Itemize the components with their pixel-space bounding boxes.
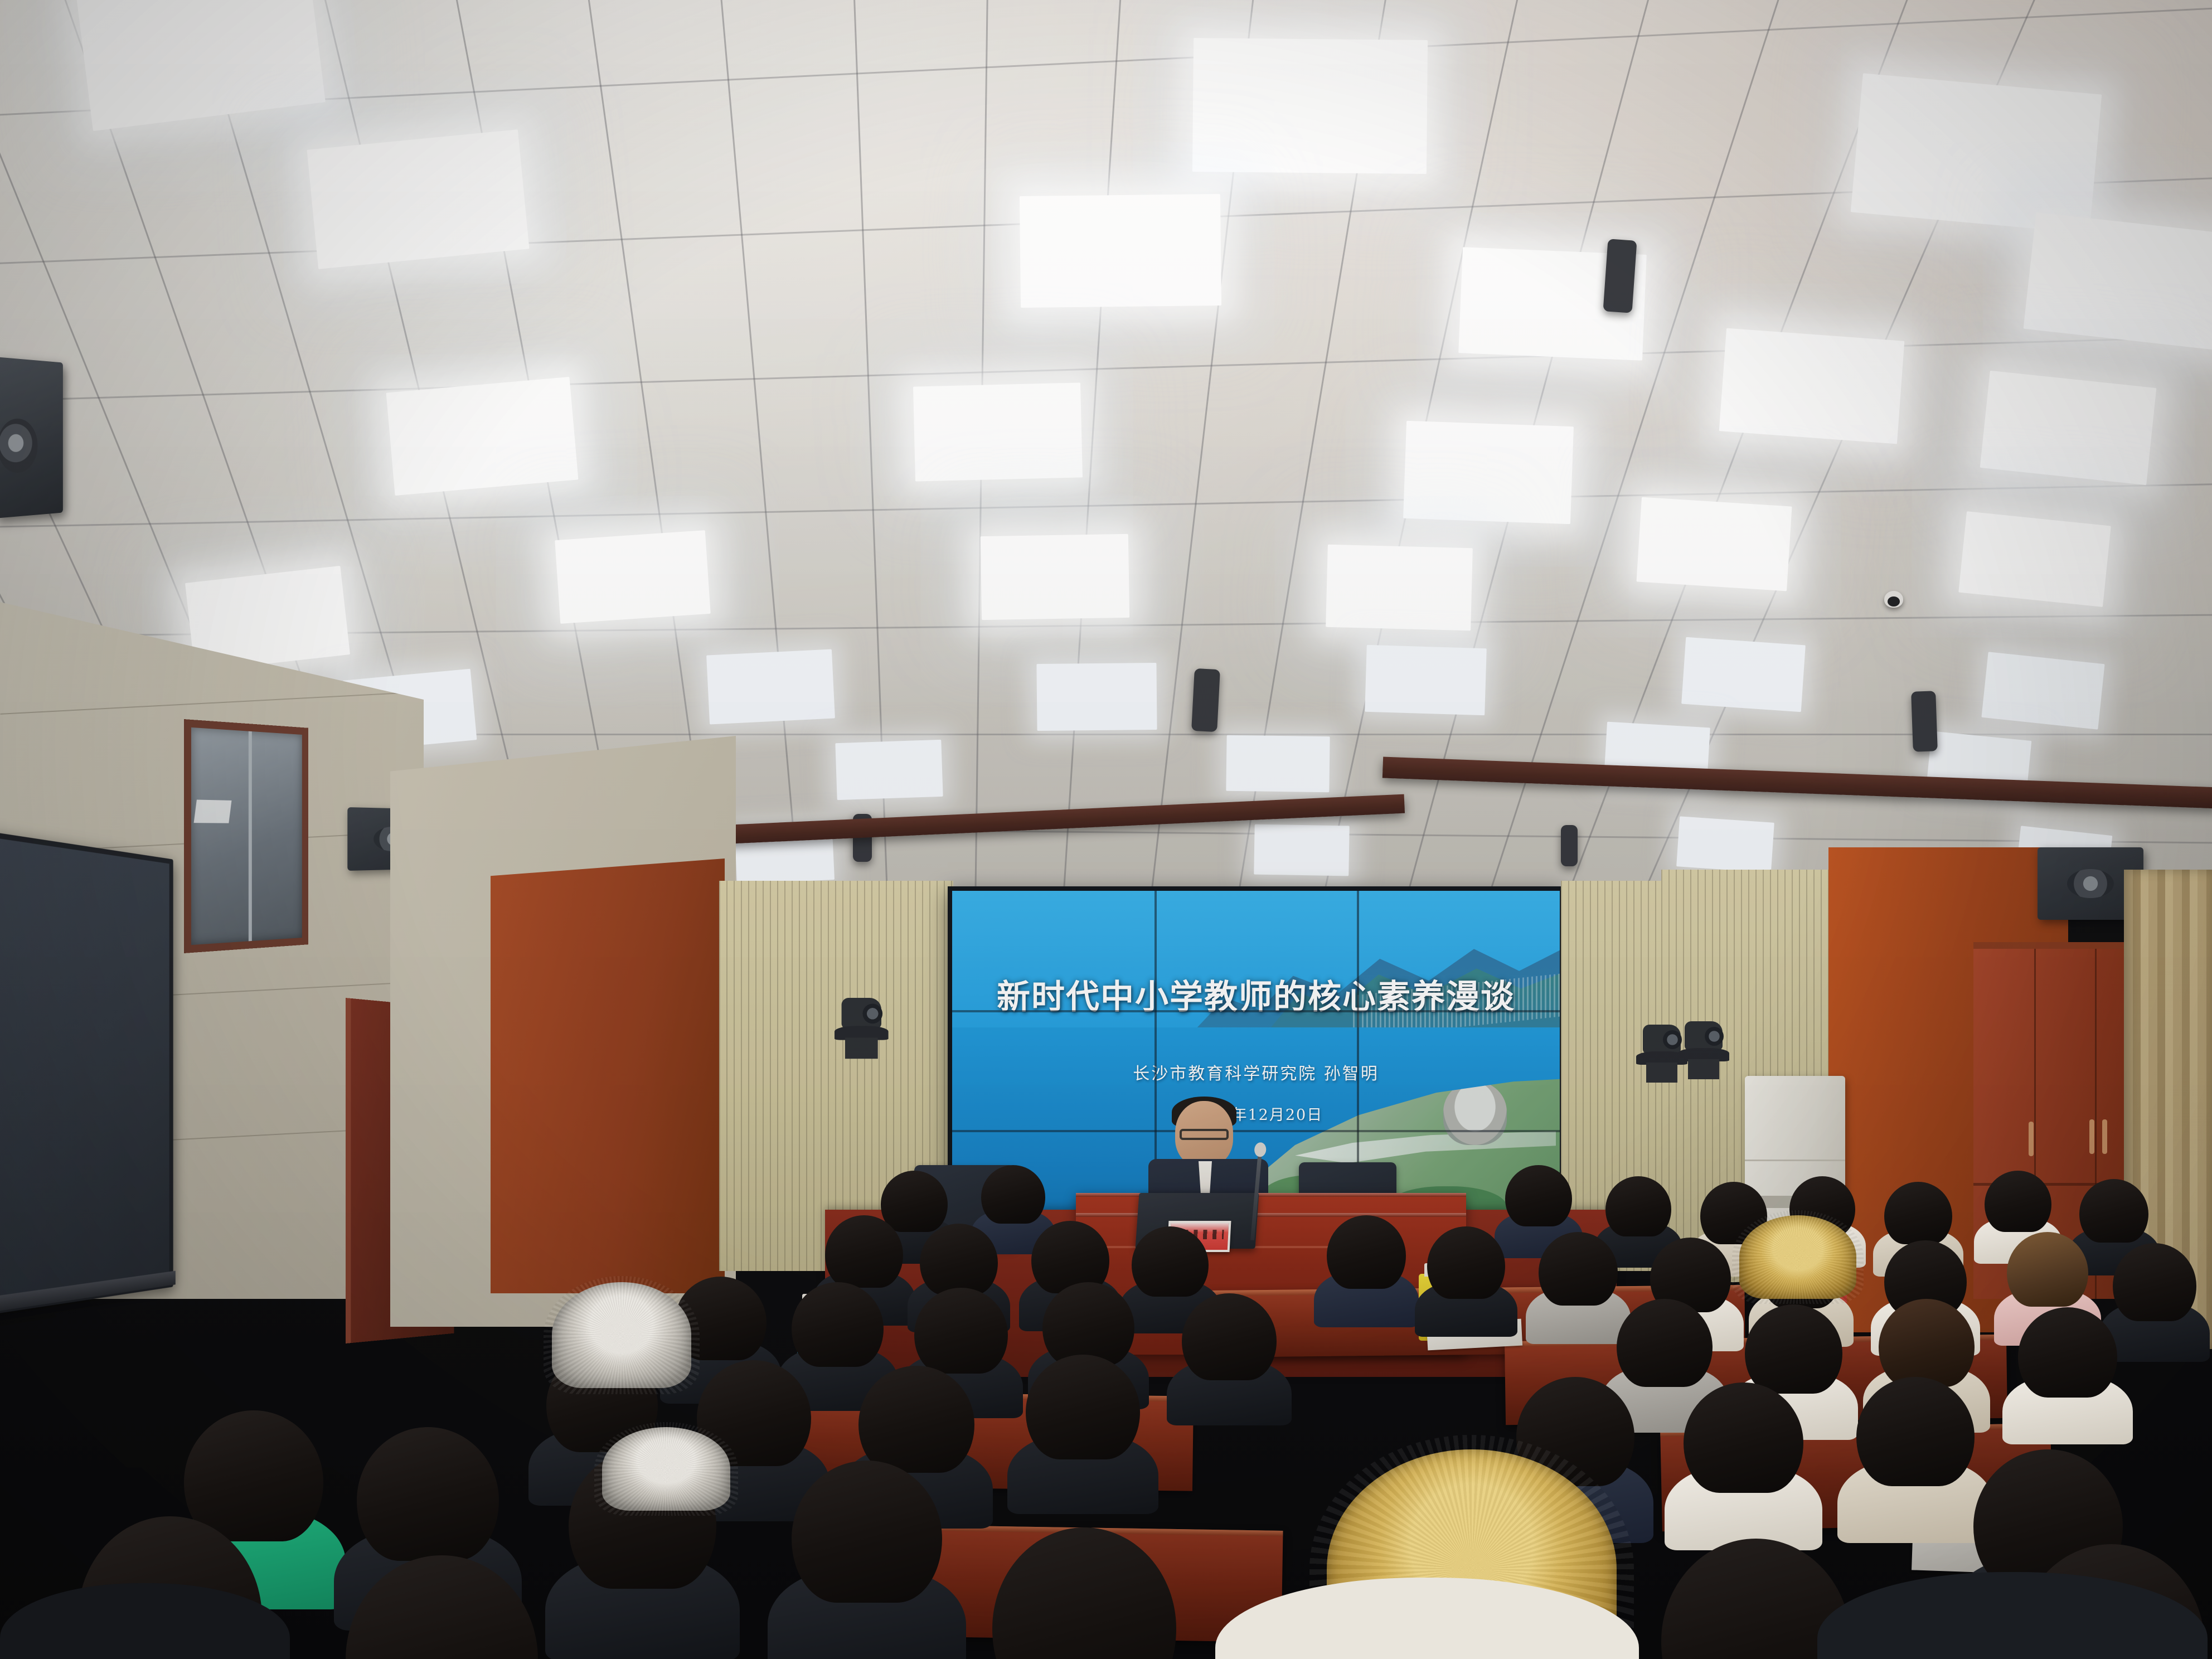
ceiling-light-panel [913, 382, 1083, 481]
audience-member [1684, 1382, 1803, 1493]
audience-member [858, 1366, 974, 1473]
audience-hair [1327, 1215, 1406, 1289]
audience-member [825, 1215, 903, 1288]
audience-hair [2113, 1243, 2196, 1321]
ceiling-light-panel [835, 740, 943, 800]
window [184, 719, 308, 953]
audience-member [2079, 1179, 2148, 1243]
slide-subtitle: 长沙市教育科学研究院 孙智明 [952, 1060, 1560, 1084]
audience-hair [992, 1527, 1176, 1659]
fur-trimmed-hood [1739, 1215, 1856, 1299]
ceiling-light-panel [1719, 328, 1905, 444]
audience-member [992, 1527, 1176, 1659]
ceiling-light-panel [981, 534, 1129, 620]
audience-member [2113, 1243, 2196, 1321]
ceiling-light-panel [2024, 212, 2212, 351]
ceiling-grid-line [0, 0, 2212, 83]
ceiling-light-panel [1326, 545, 1473, 631]
ceiling-light-panel [1958, 511, 2111, 607]
audience-hair [825, 1215, 903, 1288]
audience-hair [981, 1165, 1045, 1224]
wall-speaker-icon [0, 357, 63, 518]
audience-member [1026, 1355, 1140, 1459]
ceiling-light-panel [555, 530, 710, 624]
audience-hair [346, 1555, 538, 1659]
audience-hair [357, 1427, 499, 1561]
ptz-camera-icon [835, 998, 889, 1059]
ceiling-light-panel [1636, 497, 1792, 591]
audience-member [1884, 1182, 1952, 1244]
audience-hair [1884, 1182, 1952, 1244]
audience-hair [792, 1461, 942, 1603]
fur-trimmed-hood [602, 1427, 730, 1511]
ceiling-light-panel [1254, 824, 1349, 876]
audience-member [981, 1165, 1045, 1224]
audience-hair [1617, 1299, 1713, 1387]
audience-member [1327, 1215, 1406, 1289]
audience-hair [1026, 1355, 1140, 1459]
audience-member [346, 1555, 538, 1659]
ceiling-light-panel [386, 377, 579, 496]
audience-member [1985, 1171, 2051, 1232]
ceiling-speaker-icon [1191, 668, 1220, 732]
audience-hair [1879, 1299, 1975, 1387]
ceiling-light-panel [1226, 735, 1330, 792]
audience-member [914, 1288, 1008, 1374]
audience-member [1182, 1293, 1277, 1380]
audience-hair [1745, 1304, 1842, 1394]
ceiling-light-panel [1403, 421, 1574, 524]
audience-member [1879, 1299, 1975, 1387]
audience-hair [1042, 1282, 1134, 1366]
ceiling-light-panel [1020, 194, 1221, 308]
ceiling-light-panel [1681, 637, 1806, 712]
audience-member [792, 1461, 942, 1603]
audience-hair [858, 1366, 974, 1473]
audience-member [1042, 1282, 1134, 1366]
wood-panel-left [491, 858, 725, 1293]
audience-hair [1539, 1232, 1618, 1306]
audience-member [920, 1224, 998, 1295]
audience-hair [2007, 1232, 2088, 1307]
ceiling-speaker-icon [1911, 691, 1938, 751]
audience-member [1617, 1299, 1713, 1387]
audience-member [1856, 1377, 1975, 1486]
audience-hair [920, 1224, 998, 1295]
lecture-hall-photo: 新时代中小学教师的核心素养漫谈 长沙市教育科学研究院 孙智明 2017年12月2… [0, 0, 2212, 1659]
audience-hair [1985, 1171, 2051, 1232]
ceiling-speaker-icon [1561, 825, 1578, 866]
audience-hair [1132, 1226, 1209, 1297]
audience-member [357, 1427, 499, 1561]
audience-member [1605, 1176, 1671, 1236]
audience-hair [1605, 1176, 1671, 1236]
audience-member [792, 1282, 884, 1367]
ceiling-light-panel [1851, 73, 2102, 233]
ceiling-light-panel [1365, 645, 1487, 715]
audience-hair [914, 1288, 1008, 1374]
fur-trimmed-hood [552, 1282, 691, 1388]
audience-hair [1182, 1293, 1277, 1380]
dome-camera-icon [1884, 591, 1903, 608]
ceiling-light-panel [1980, 371, 2157, 485]
audience-hair [1684, 1382, 1803, 1493]
video-wall-bezel [952, 1010, 1560, 1012]
ceiling-speaker-icon [1603, 239, 1637, 313]
audience-hair [2018, 1307, 2117, 1398]
ceiling-light-panel [1676, 816, 1774, 872]
audience-member [1539, 1232, 1618, 1306]
audience-member [1505, 1165, 1572, 1226]
wall-mounted-display [0, 831, 173, 1316]
audience-hair [1856, 1377, 1975, 1486]
audience-member [1427, 1226, 1505, 1299]
audience-member [1745, 1304, 1842, 1394]
ceiling-light-panel [1036, 663, 1157, 731]
ceiling-light-panel [1192, 38, 1428, 174]
ceiling-light-panel [307, 129, 530, 269]
audience-hair [1427, 1226, 1505, 1299]
audience-member [2007, 1232, 2088, 1307]
ceiling-light-panel [706, 649, 835, 725]
audience-member [2018, 1307, 2117, 1398]
ptz-camera-icon [1678, 1021, 1729, 1079]
audience-hair [2079, 1179, 2148, 1243]
audience-member [1132, 1226, 1209, 1297]
ceiling-light-panel [1981, 652, 2104, 729]
audience-hair [792, 1282, 884, 1367]
audience-hair [1505, 1165, 1572, 1226]
